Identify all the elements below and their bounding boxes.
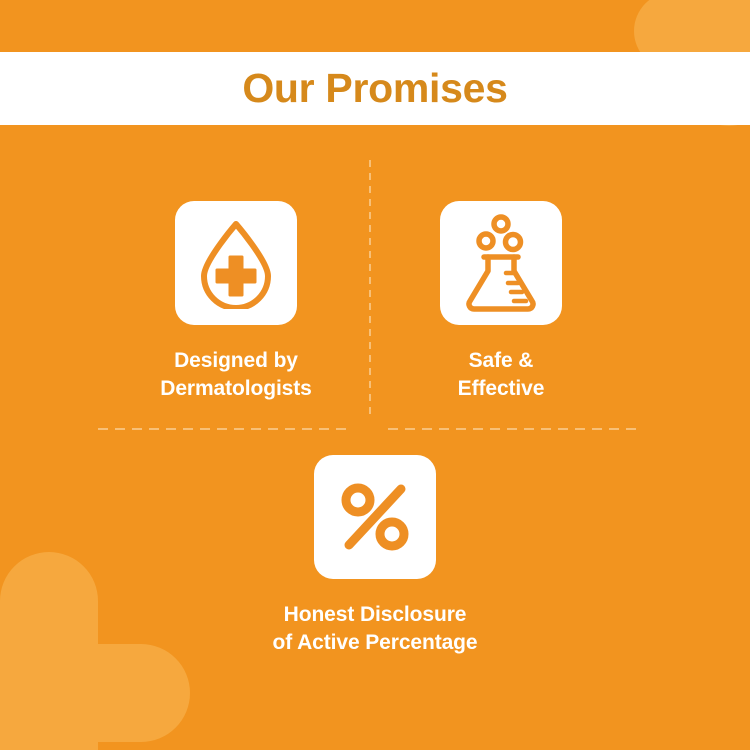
promise-label-line: Safe & (458, 347, 545, 375)
divider-vertical (369, 160, 371, 415)
divider-horizontal-right (388, 428, 642, 430)
promise-label: Honest Disclosure of Active Percentage (273, 601, 478, 656)
promise-label: Designed by Dermatologists (160, 347, 311, 402)
icon-card (440, 201, 562, 325)
icon-card (314, 455, 436, 579)
promise-label-line: Effective (458, 375, 545, 403)
cross-decoration-bottom-left (0, 552, 190, 750)
cross-bar-horizontal (0, 644, 190, 742)
icon-card (175, 201, 297, 325)
promises-card: Our Promises Designed by Dermatologists (0, 0, 750, 750)
promise-item-safe-effective: Safe & Effective (379, 201, 623, 402)
promise-label-line: Dermatologists (160, 375, 311, 403)
promise-item-designed-by-dermatologists: Designed by Dermatologists (114, 201, 358, 402)
droplet-plus-icon (194, 217, 278, 309)
percent-icon (337, 479, 413, 555)
header-band: Our Promises (0, 52, 750, 125)
page-title: Our Promises (242, 68, 507, 109)
divider-horizontal-left (98, 428, 352, 430)
promise-label-line: of Active Percentage (273, 629, 478, 657)
promise-label-line: Designed by (160, 347, 311, 375)
flask-bubbles-icon (461, 213, 541, 313)
promise-label: Safe & Effective (458, 347, 545, 402)
promise-item-honest-disclosure: Honest Disclosure of Active Percentage (246, 455, 504, 656)
cross-bar-vertical (0, 552, 98, 750)
promise-label-line: Honest Disclosure (273, 601, 478, 629)
